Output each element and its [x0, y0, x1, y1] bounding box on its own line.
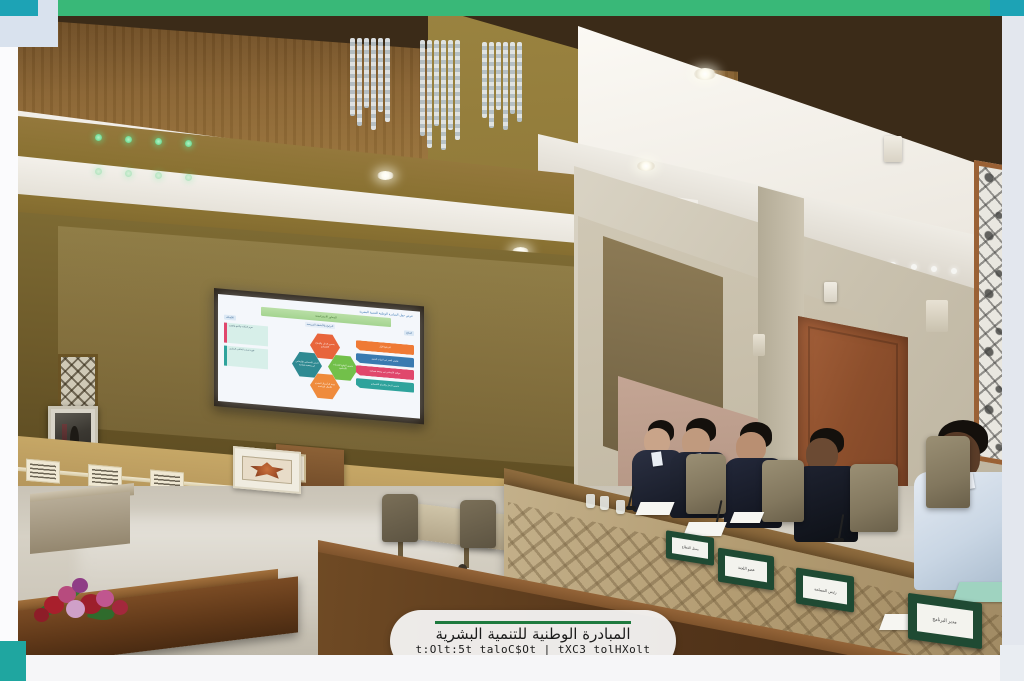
drinking-glass	[586, 494, 595, 508]
flower-arrangement	[34, 574, 154, 628]
nameplate-card: مدير البرنامج	[917, 603, 973, 638]
slide-subheading: البرامج والأنشطة المبرمجة	[305, 322, 336, 330]
microphone-base	[834, 538, 844, 542]
ceiling-spotlight	[377, 171, 394, 180]
document-page	[635, 502, 674, 515]
drinking-glass	[616, 500, 625, 514]
wall-dot-light	[951, 268, 957, 274]
led-dot	[95, 168, 102, 175]
logo-tifinagh-text: t:Olt:5t taloC$Ot | tXC3 tolHXolt	[415, 643, 650, 655]
conference-room-photo: عرض حول المبادرة الوطنية للتنمية البشرية…	[18, 16, 1002, 655]
mosaic-tile	[26, 459, 60, 484]
wall-speaker	[884, 136, 902, 162]
slide-bar-item: تقليص العجز في البنيات التحتية	[356, 353, 414, 368]
nameplate-text: عضو اللجنة	[738, 565, 755, 573]
frame-corner-top-right	[990, 0, 1024, 16]
frame-bottom-border	[0, 655, 1024, 681]
chair[interactable]	[460, 500, 496, 548]
led-dot	[155, 138, 162, 145]
slide-left-card: تعزيز الحكامة والتتبع والتقييم	[224, 323, 268, 347]
wall-dot-light	[931, 266, 937, 272]
microphone-base	[626, 506, 636, 510]
chandelier	[350, 38, 392, 134]
national-emblem-frame	[233, 446, 301, 494]
nameplate-text: مدير البرنامج	[933, 616, 957, 625]
slide-bar-item: البرنامج الأول	[356, 340, 414, 355]
document-page	[730, 512, 764, 523]
document-page-green	[952, 582, 1002, 602]
chair[interactable]	[850, 464, 898, 532]
wall-sconce	[753, 334, 765, 356]
nameplate-card: عضو اللجنة	[725, 555, 768, 582]
flower-petal	[96, 590, 114, 607]
chandelier	[482, 42, 524, 134]
frame-top-band	[58, 0, 1024, 16]
nameplate-card: رئيس المصلحة	[803, 576, 847, 605]
nameplate-card: ممثل القطاع	[672, 537, 708, 560]
slide-hexagon-cluster: تحسين الدخل والإدماج الاقتصادي الدعم الا…	[290, 330, 362, 402]
led-dot	[155, 172, 162, 179]
collar-shirt	[651, 451, 663, 466]
presentation-slide: عرض حول المبادرة الوطنية للتنمية البشرية…	[218, 294, 420, 419]
led-dot	[185, 140, 192, 147]
led-dot	[185, 174, 192, 181]
frame-corner-bottom-left	[0, 641, 26, 681]
flower-petal	[34, 608, 49, 622]
chandelier	[420, 40, 462, 152]
frame-left-border	[0, 0, 18, 681]
slide-left-cards: تعزيز الحكامة والتتبع والتقييم تقوية قدر…	[224, 323, 268, 370]
flower-petal	[72, 578, 88, 593]
slide-bar-list: البرنامج الأول تقليص العجز في البنيات ال…	[356, 340, 414, 393]
projection-screen[interactable]: عرض حول المبادرة الوطنية للتنمية البشرية…	[218, 294, 420, 419]
ceiling-spotlight	[694, 68, 716, 80]
wall-speaker	[824, 282, 837, 302]
slide-left-panel-label: الأهداف	[224, 315, 236, 321]
chair[interactable]	[926, 436, 970, 508]
flower-petal	[112, 600, 128, 615]
ceiling-spotlight	[637, 161, 655, 171]
console-table	[30, 491, 130, 554]
led-dot	[125, 136, 132, 143]
screenshot-stage: عرض حول المبادرة الوطنية للتنمية البشرية…	[0, 0, 1024, 681]
drinking-glass	[600, 496, 609, 510]
slide-bar-item: مواكبة الأشخاص في وضعية هشاشة	[356, 365, 414, 380]
slide-left-card: تقوية قدرات الفاعلين المحليين	[224, 346, 268, 370]
frame-corner-bottom-right	[1000, 645, 1024, 681]
logo-arabic-text: المبادرة الوطنية للتنمية البشرية	[435, 626, 630, 643]
slide-right-panel-label: النتائج	[404, 330, 414, 336]
organization-logo-watermark: المبادرة الوطنية للتنمية البشرية t:Olt:5…	[390, 610, 676, 655]
wall-sconce	[926, 300, 948, 332]
nameplate-text: رئيس المصلحة	[814, 586, 836, 595]
logo-green-rule	[435, 621, 631, 624]
chair[interactable]	[762, 460, 804, 522]
nameplate-text: ممثل القطاع	[682, 545, 699, 552]
flower-petal	[66, 600, 85, 618]
led-dot	[125, 170, 132, 177]
slide-bar-item: تحسين الدخل والإدماج الاقتصادي	[356, 378, 414, 393]
frame-right-border	[1002, 16, 1024, 681]
frame-corner-top-left	[0, 0, 58, 47]
national-emblem	[242, 456, 292, 484]
chair[interactable]	[382, 494, 418, 542]
led-dot	[95, 134, 102, 141]
